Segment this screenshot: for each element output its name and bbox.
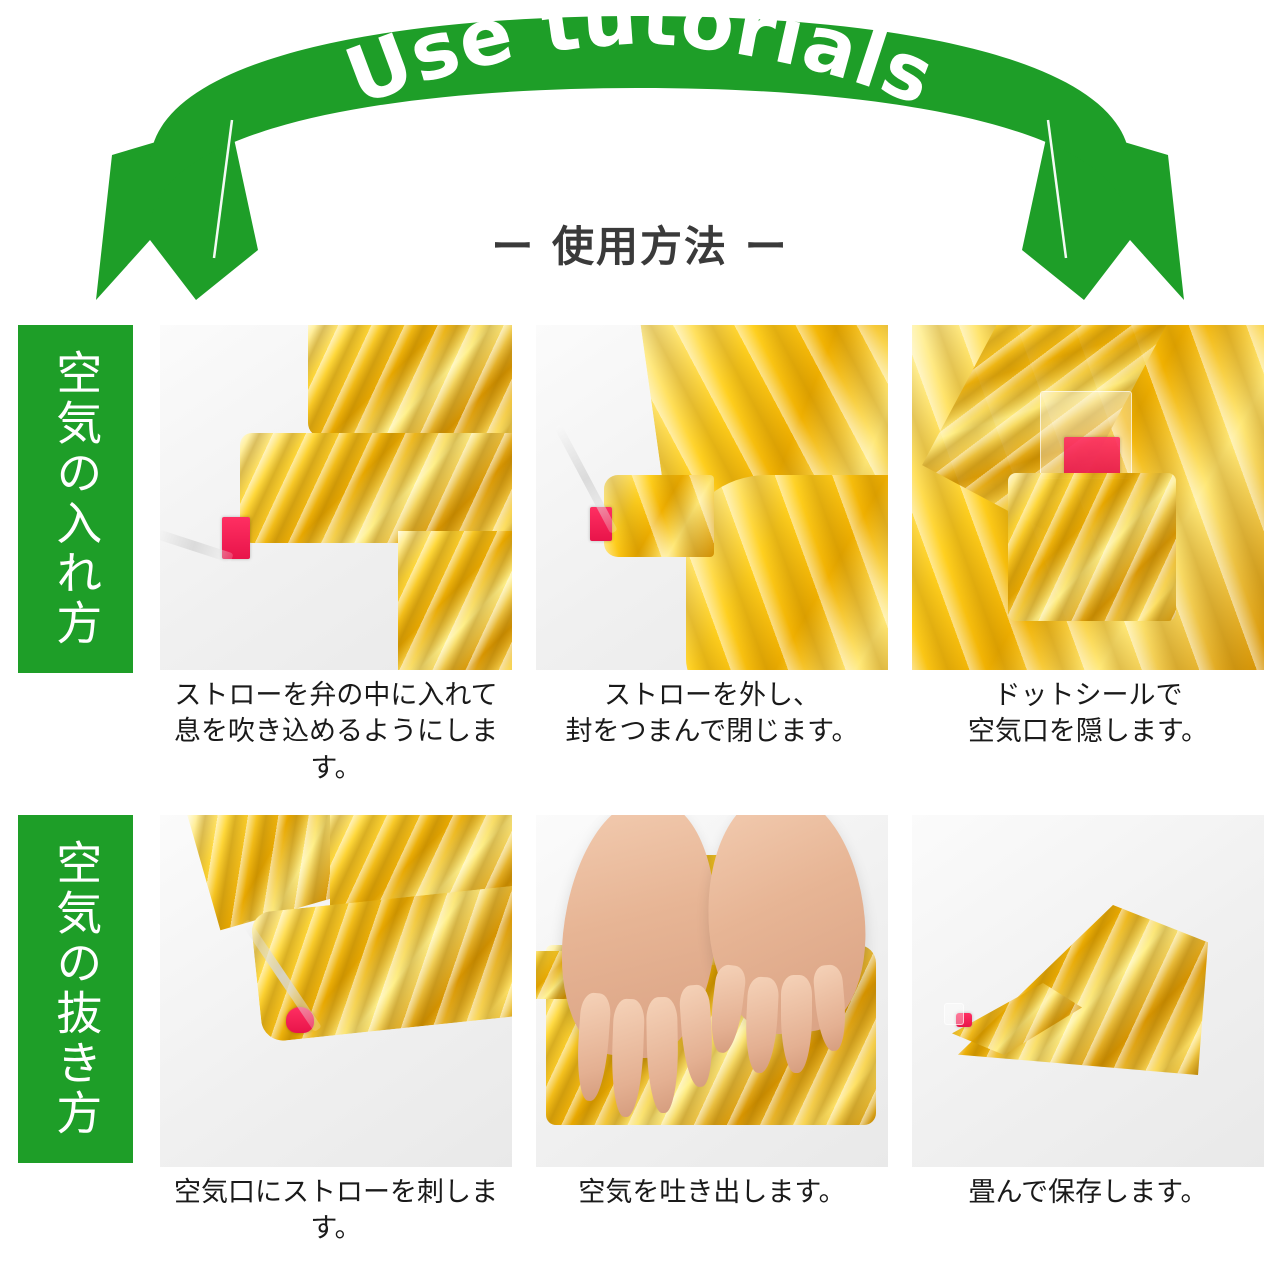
section-label-inflate-text: 空気の入れ方 (50, 349, 102, 649)
step-card-3[interactable]: ドットシールで 空気口を隠します。 (912, 325, 1264, 765)
step-card-2[interactable]: ストローを外し、 封をつまんで閉じます。 (536, 325, 888, 765)
star-body (686, 475, 888, 670)
banner-subtitle: ー 使用方法 ー (0, 213, 1280, 274)
photo-insert-straw-into-air-hole (160, 815, 512, 1167)
step-card-6[interactable]: 畳んで保存します。 (912, 815, 1264, 1255)
foil-upper-arm (308, 325, 512, 437)
steps-row-inflate: ストローを弁の中に入れて 息を吹き込めるようにします。 ストローを外し、 封をつ… (160, 325, 1270, 765)
banner: Use tutorials ー 使用方法 ー (0, 0, 1280, 300)
step-caption-5: 空気を吐き出します。 (536, 1175, 888, 1211)
photo-dot-seal-over-valve (912, 325, 1264, 670)
step-caption-2: ストローを外し、 封をつまんで閉じます。 (536, 678, 888, 751)
star-neck (604, 475, 714, 557)
photo-inflated-star-pinch-seal (536, 325, 888, 670)
section-label-inflate: 空気の入れ方 (18, 325, 133, 673)
photo-hands-pressing-out-air (536, 815, 888, 1167)
step-caption-3: ドットシールで 空気口を隠します。 (912, 678, 1264, 751)
foil-center-band (240, 433, 512, 543)
valve-tab (1064, 437, 1120, 475)
straw-remnant (944, 1003, 964, 1025)
photo-straw-into-valve (160, 325, 512, 670)
section-label-deflate-text: 空気の抜き方 (50, 839, 102, 1139)
photo-folded-balloon-storage (912, 815, 1264, 1167)
tutorial-page: Use tutorials ー 使用方法 ー 空気の入れ方 ストローを弁の中に入… (0, 0, 1280, 1280)
foil-lower-arm (398, 531, 512, 670)
steps-row-deflate: 空気口にストローを刺します。 (160, 815, 1270, 1255)
section-inflate: 空気の入れ方 ストローを弁の中に入れて 息を吹き込めるようにします。 (0, 315, 1280, 765)
step-card-4[interactable]: 空気口にストローを刺します。 (160, 815, 512, 1255)
step-card-1[interactable]: ストローを弁の中に入れて 息を吹き込めるようにします。 (160, 325, 512, 765)
step-caption-6: 畳んで保存します。 (912, 1175, 1264, 1211)
section-label-deflate: 空気の抜き方 (18, 815, 133, 1163)
step-card-5[interactable]: 空気を吐き出します。 (536, 815, 888, 1255)
valve-cover-flap (1008, 473, 1176, 621)
step-caption-4: 空気口にストローを刺します。 (160, 1175, 512, 1248)
section-deflate: 空気の抜き方 空気口にストローを刺します。 (0, 805, 1280, 1255)
step-caption-1: ストローを弁の中に入れて 息を吹き込めるようにします。 (160, 678, 512, 787)
